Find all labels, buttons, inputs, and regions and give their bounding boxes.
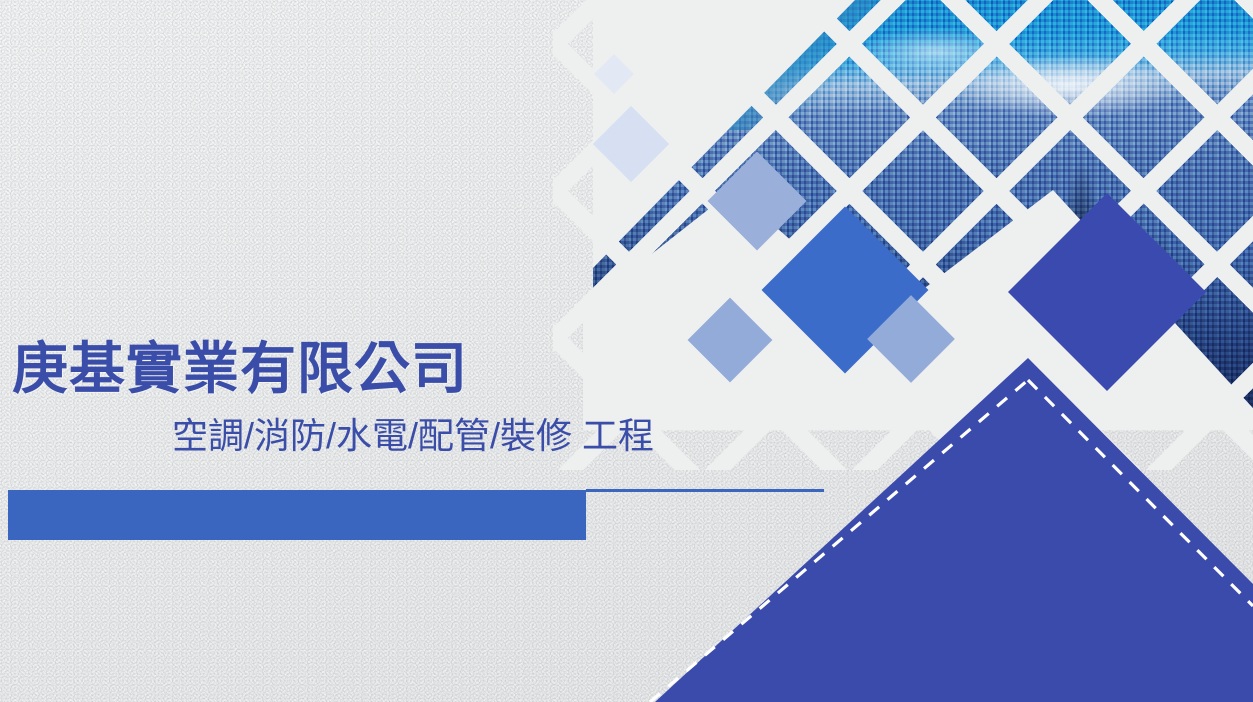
accent-bar (8, 490, 586, 540)
accent-rule (586, 489, 824, 492)
title-slide: 庚基實業有限公司 空調/消防/水電/配管/裝修 工程 (0, 0, 1253, 702)
page-title: 庚基實業有限公司 (12, 341, 468, 397)
page-subtitle: 空調/消防/水電/配管/裝修 工程 (172, 418, 654, 454)
